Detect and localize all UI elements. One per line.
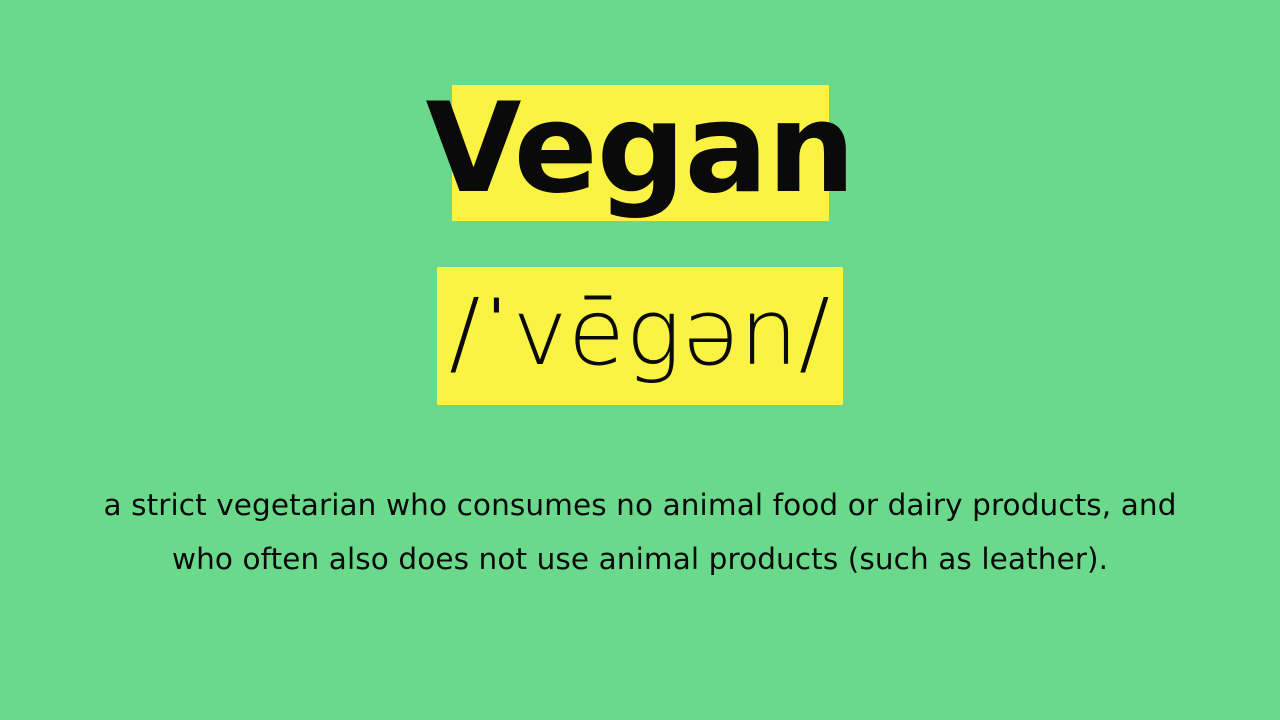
pronunciation-text: /ˈvēgən/ xyxy=(449,287,831,385)
definition-line-1: a strict vegetarian who consumes no anim… xyxy=(40,478,1240,532)
definition-block: a strict vegetarian who consumes no anim… xyxy=(40,478,1240,586)
headword-row: Vegan xyxy=(0,85,1280,221)
headword-highlight-box: Vegan xyxy=(452,85,829,221)
definition-slide: Vegan /ˈvēgən/ a strict vegetarian who c… xyxy=(0,0,1280,720)
pronunciation-row: /ˈvēgən/ xyxy=(0,267,1280,405)
headword-text: Vegan xyxy=(426,87,855,219)
pronunciation-highlight-box: /ˈvēgən/ xyxy=(437,267,843,405)
definition-line-2: who often also does not use animal produ… xyxy=(40,532,1240,586)
